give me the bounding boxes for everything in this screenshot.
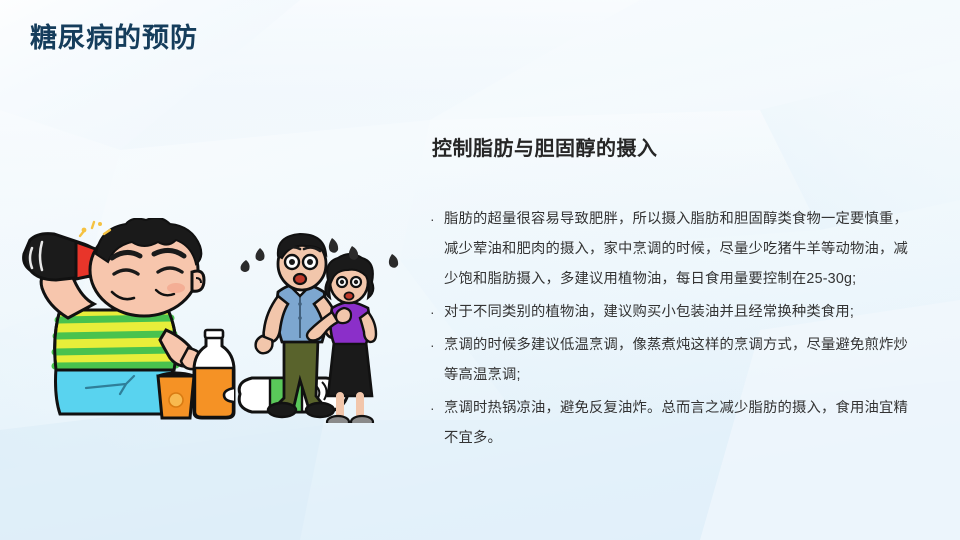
page-title: 糖尿病的预防 [30, 22, 198, 56]
list-item: · 脂肪的超量很容易导致肥胖，所以摄入脂肪和胆固醇类食物一定要慎重，减少荤油和肥… [430, 204, 908, 294]
orange-soda-bottle [194, 330, 234, 418]
list-item-text: 脂肪的超量很容易导致肥胖，所以摄入脂肪和胆固醇类食物一定要慎重，减少荤油和肥肉的… [444, 211, 908, 287]
list-item-text: 烹调的时候多建议低温烹调，像蒸煮炖这样的烹调方式，尽量避免煎炸炒等高温烹调; [444, 337, 908, 383]
list-item-text: 对于不同类别的植物油，建议购买小包装油并且经常换种类食用; [444, 304, 854, 320]
orange-can [158, 373, 194, 418]
illustration-group [8, 218, 423, 423]
slide-root: 糖尿病的预防 [0, 0, 960, 540]
bullet-list: · 脂肪的超量很容易导致肥胖，所以摄入脂肪和胆固醇类食物一定要慎重，减少荤油和肥… [430, 204, 908, 453]
list-item-text: 烹调时热锅凉油，避免反复油炸。总而言之减少脂肪的摄入，食用油宜精不宜多。 [444, 400, 908, 446]
bullet-marker: · [430, 297, 435, 327]
content-block: 控制脂肪与胆固醇的摄入 · 脂肪的超量很容易导致肥胖，所以摄入脂肪和胆固醇类食物… [430, 136, 908, 456]
list-item: · 对于不同类别的植物油，建议购买小包装油并且经常换种类食用; [430, 297, 908, 327]
bullet-marker: · [430, 330, 435, 360]
bullet-marker: · [430, 204, 435, 234]
content-heading: 控制脂肪与胆固醇的摄入 [432, 136, 908, 162]
list-item: · 烹调时热锅凉油，避免反复油炸。总而言之减少脂肪的摄入，食用油宜精不宜多。 [430, 393, 908, 453]
bullet-marker: · [430, 393, 435, 423]
list-item: · 烹调的时候多建议低温烹调，像蒸煮炖这样的烹调方式，尽量避免煎炸炒等高温烹调; [430, 330, 908, 390]
illustration-svg [8, 218, 423, 423]
